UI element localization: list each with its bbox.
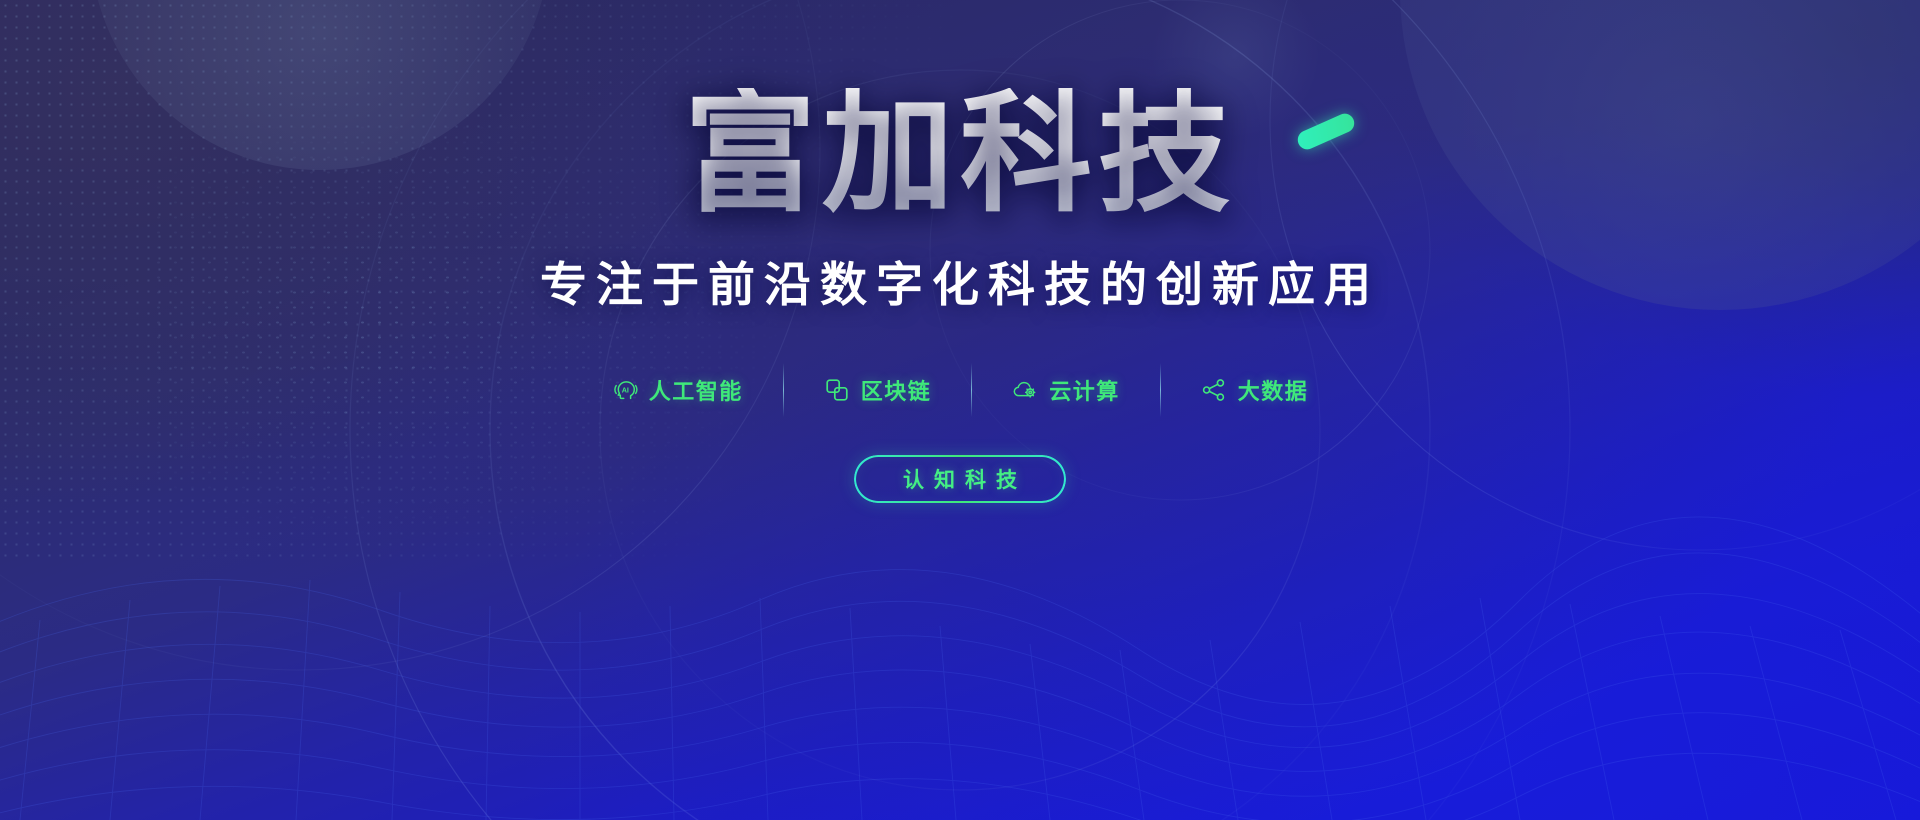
hero-subtitle: 专注于前沿数字化科技的创新应用 <box>540 246 1380 315</box>
feature-tag-label: 大数据 <box>1238 374 1309 406</box>
feature-tag-label: 云计算 <box>1049 374 1120 406</box>
feature-tag-ai[interactable]: AI 人工智能 <box>572 374 783 406</box>
feature-tag-label: 人工智能 <box>649 374 743 406</box>
feature-tag-cloud[interactable]: 云计算 <box>972 374 1160 406</box>
cta-container: 认知科技 <box>854 455 1066 503</box>
feature-tag-blockchain[interactable]: 区块链 <box>784 374 972 406</box>
hero-banner: 富加科技 专注于前沿数字化科技的创新应用 AI 人工智能 <box>0 0 1920 820</box>
logo-accent-stroke <box>1295 111 1358 153</box>
share-nodes-icon <box>1201 377 1227 403</box>
feature-tag-bigdata[interactable]: 大数据 <box>1161 374 1349 406</box>
cognitive-tech-button[interactable]: 认知科技 <box>854 455 1066 503</box>
brand-logo: 富加科技 <box>684 88 1236 220</box>
ai-head-icon: AI <box>612 377 638 403</box>
svg-text:AI: AI <box>621 385 628 394</box>
cloud-gear-icon <box>1012 377 1038 403</box>
brand-logo-text: 富加科技 <box>684 88 1236 220</box>
feature-tag-label: 区块链 <box>861 374 932 406</box>
feature-tag-list: AI 人工智能 区块链 <box>572 363 1349 417</box>
hero-content: 富加科技 专注于前沿数字化科技的创新应用 AI 人工智能 <box>0 0 1920 820</box>
blockchain-blocks-icon <box>824 377 850 403</box>
